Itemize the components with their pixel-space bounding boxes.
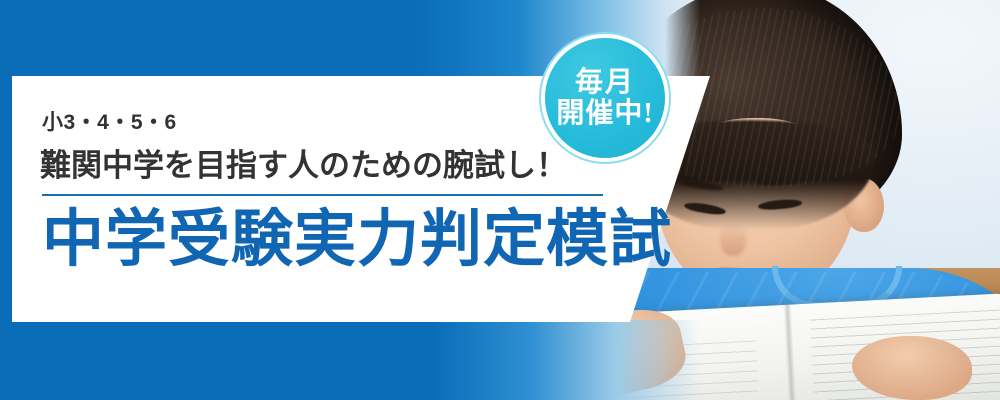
badge-line-1: 毎月	[575, 67, 635, 98]
badge-line-2: 開催中!	[556, 98, 653, 129]
bottom-blue-band	[0, 320, 700, 400]
divider	[42, 194, 603, 196]
left-blue-band	[0, 0, 12, 400]
grade-range-label: 小3・4・5・6	[42, 106, 177, 136]
monthly-event-badge: 毎月 開催中!	[545, 38, 665, 158]
lead-copy: 難関中学を目指す人のための腕試し！	[40, 140, 567, 185]
page-title: 中学受験実力判定模試	[42, 205, 672, 276]
photo-notebook-spine	[783, 305, 797, 400]
promo-banner[interactable]: DOUBLE.B CAMP.LIFE 小3・4・5・6 難関中学を目指す人のため…	[0, 0, 1000, 400]
